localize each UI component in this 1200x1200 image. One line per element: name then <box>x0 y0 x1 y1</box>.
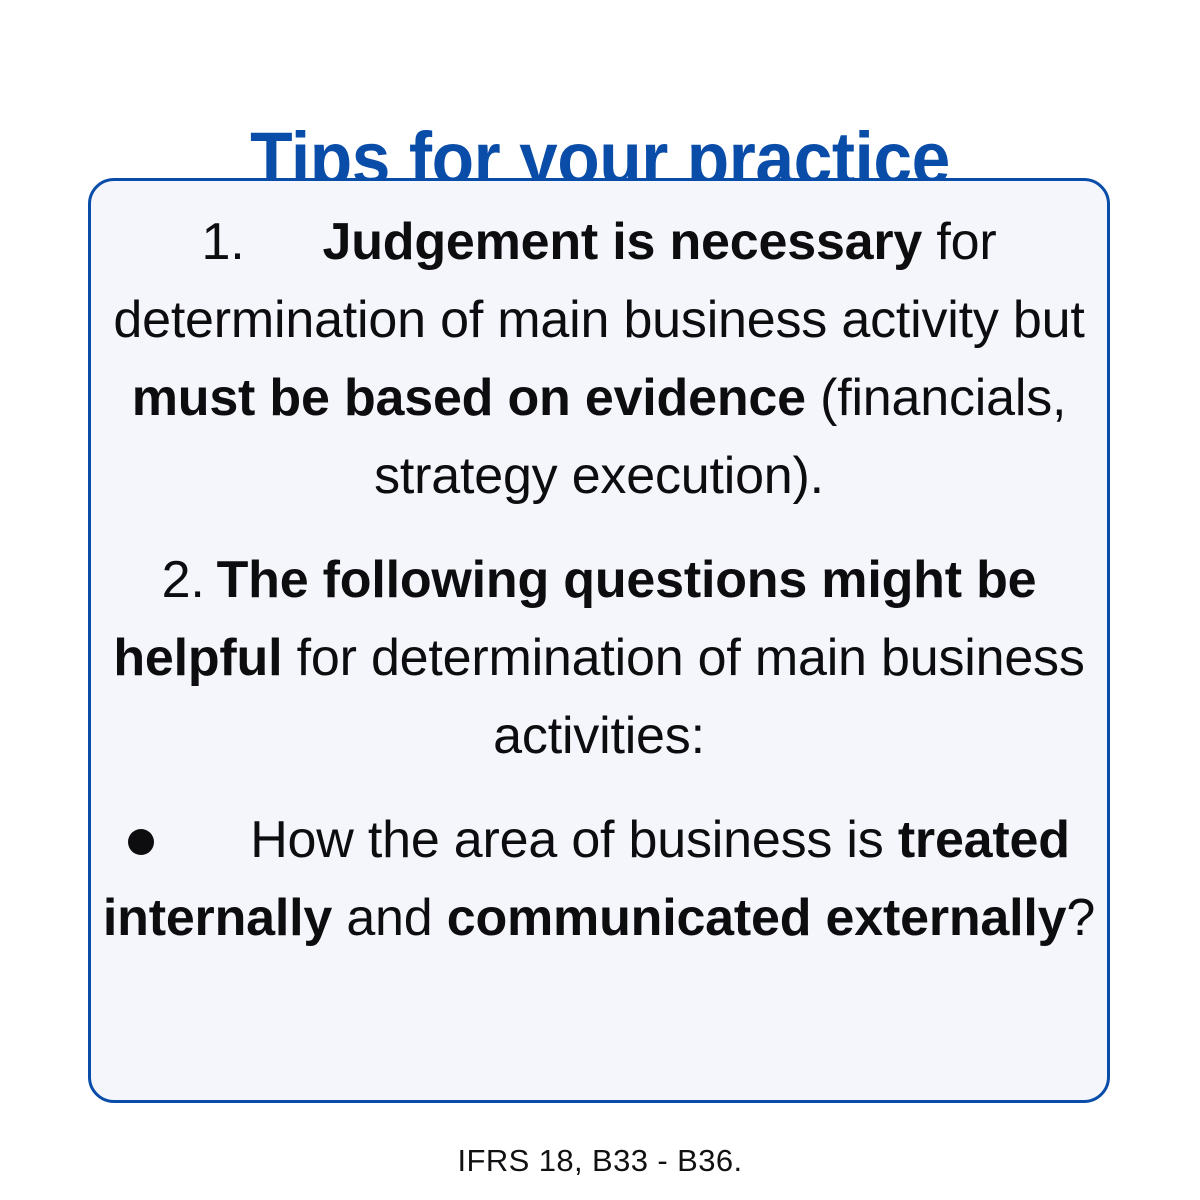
list-item-3-run-0: How the area of business is <box>250 811 898 869</box>
list-item-2-marker: 2. <box>162 551 205 609</box>
slide-root: Tips for your practice 1.Judgement is ne… <box>0 0 1200 1200</box>
bullet-icon <box>128 829 154 855</box>
list-item-1-run-2: must be based on evidence <box>132 369 806 427</box>
list-item-1-run-0: Judgement is necessary <box>322 213 922 271</box>
list-item-3-run-2: and <box>332 889 447 947</box>
source-citation: IFRS 18, B33 - B36. <box>0 1141 1200 1181</box>
list-item-1: 1.Judgement is necessary for determinati… <box>101 203 1097 515</box>
list-item-1-marker: 1. <box>202 213 245 271</box>
list-item-3-run-3: communicated externally <box>447 889 1067 947</box>
list-item-2: 2.The following questions might be helpf… <box>101 541 1097 775</box>
list-item-3-run-4: ? <box>1066 889 1095 947</box>
tips-list: 1.Judgement is necessary for determinati… <box>101 203 1097 957</box>
list-item-2-run-1: for determination of main business activ… <box>282 629 1084 765</box>
list-item-3: How the area of business is treated inte… <box>101 801 1097 957</box>
tips-card: 1.Judgement is necessary for determinati… <box>88 178 1110 1103</box>
